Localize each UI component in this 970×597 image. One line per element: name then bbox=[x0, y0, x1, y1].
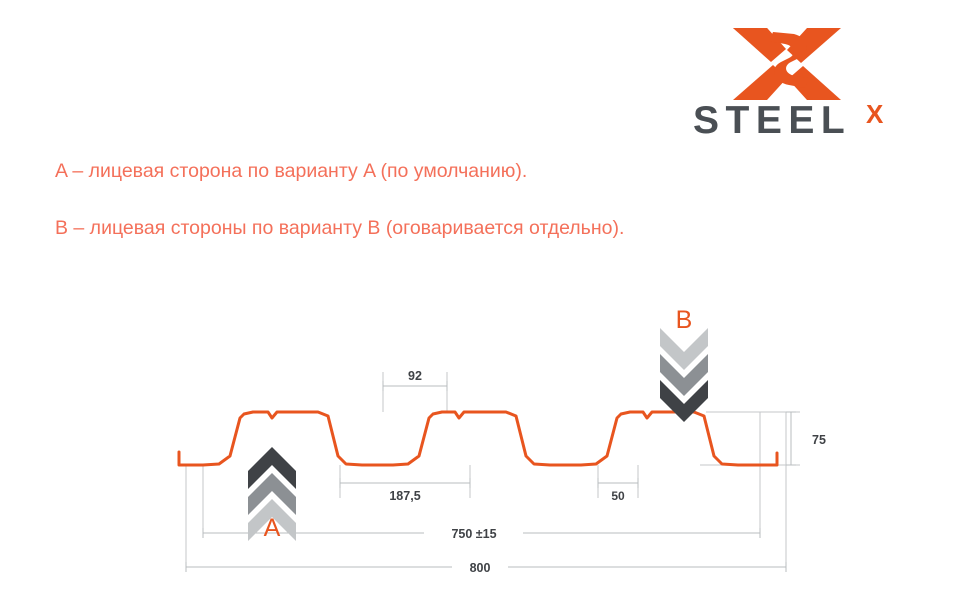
wordmark-x-text: X bbox=[866, 93, 883, 135]
steelx-wordmark: STEEL X bbox=[693, 100, 903, 142]
dimension-label-50: 50 bbox=[611, 489, 625, 503]
dimension-label-187-5: 187,5 bbox=[389, 489, 420, 503]
dimension-label-750: 750 ±15 bbox=[451, 527, 496, 541]
steelx-logo-mark bbox=[731, 22, 843, 106]
marker-b-label: B bbox=[676, 306, 693, 334]
profile-technical-drawing: A B 92 187,5 50 75 750 ±15 800 bbox=[0, 280, 970, 597]
dimension-label-92: 92 bbox=[408, 369, 422, 383]
legend-line-b: B – лицевая стороны по варианту B (огова… bbox=[55, 217, 624, 240]
page-root: STEEL X A – лицевая сторона по варианту … bbox=[0, 0, 970, 597]
dimension-lines bbox=[186, 381, 796, 572]
wordmark-steel-text: STEEL bbox=[693, 100, 851, 142]
dimension-label-800: 800 bbox=[470, 561, 491, 575]
legend-line-a: A – лицевая сторона по варианту A (по ум… bbox=[55, 160, 527, 183]
marker-b-chevrons bbox=[660, 328, 708, 422]
marker-a-label: A bbox=[264, 514, 281, 542]
dimension-label-75: 75 bbox=[812, 433, 826, 447]
